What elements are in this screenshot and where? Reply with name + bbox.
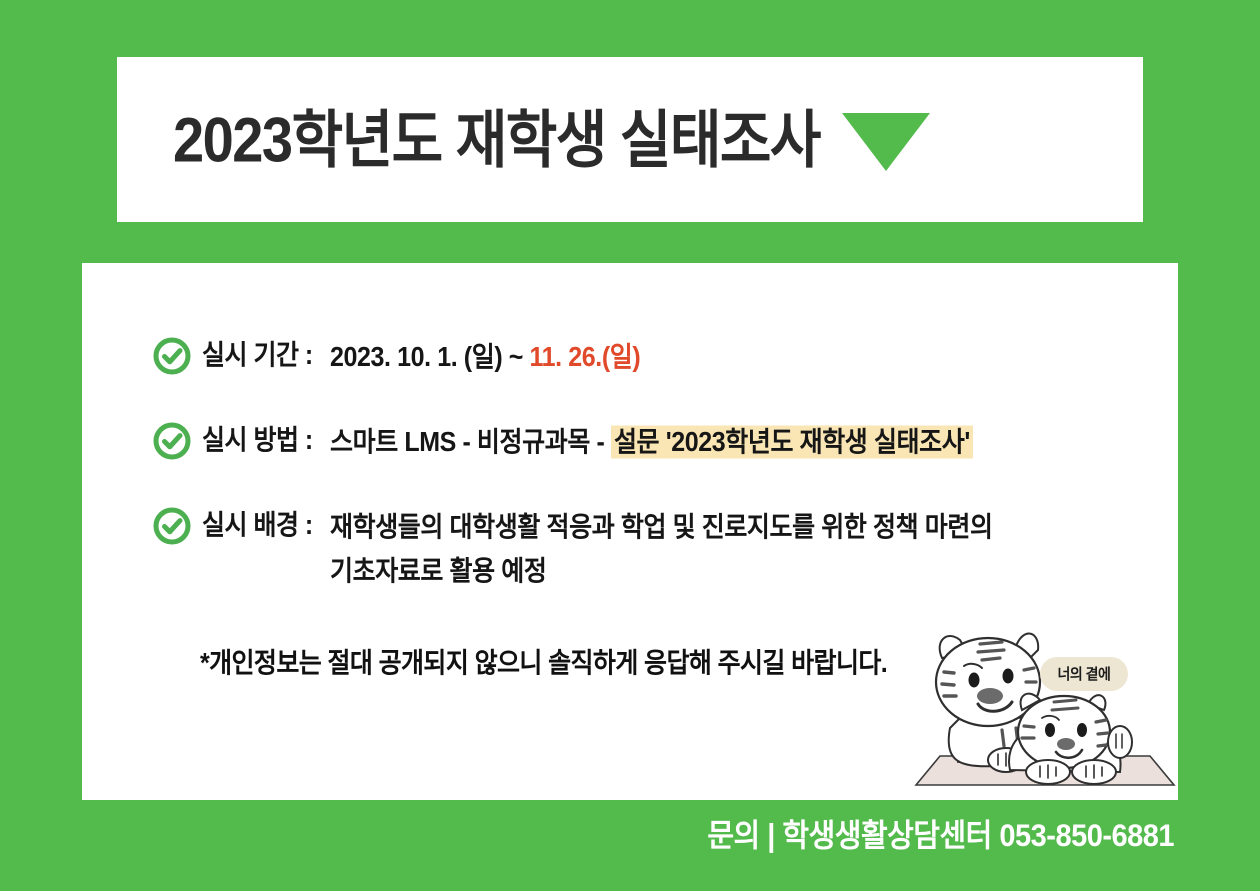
- info-row-period: 실시 기간 : 2023. 10. 1. (일) ~ 11. 26.(일): [152, 335, 1152, 376]
- check-circle-icon: [152, 336, 192, 376]
- row-label-background: 실시 배경 :: [202, 503, 330, 547]
- check-circle-icon: [152, 506, 192, 546]
- background-line-1: 재학생들의 대학생활 적응과 학업 및 진로지도를 위한 정책 마련의: [330, 512, 993, 543]
- period-end: 11. 26.(일): [530, 342, 641, 373]
- method-path: 스마트 LMS - 비정규과목 -: [330, 427, 611, 458]
- row-value-period: 2023. 10. 1. (일) ~ 11. 26.(일): [330, 335, 640, 379]
- row-value-background: 재학생들의 대학생활 적응과 학업 및 진로지도를 위한 정책 마련의 기초자료…: [330, 505, 993, 593]
- row-label-method: 실시 방법 :: [202, 418, 330, 462]
- mascot-badge-label: 너의 곁에: [1058, 664, 1111, 685]
- info-rows: 실시 기간 : 2023. 10. 1. (일) ~ 11. 26.(일) 실시…: [152, 335, 1152, 585]
- info-row-background: 실시 배경 : 재학생들의 대학생활 적응과 학업 및 진로지도를 위한 정책 …: [152, 505, 1152, 585]
- row-value-method: 스마트 LMS - 비정규과목 - 설문 '2023학년도 재학생 실태조사': [330, 420, 973, 464]
- method-survey-name: 설문 '2023학년도 재학생 실태조사': [611, 426, 973, 459]
- row-label-period: 실시 기간 :: [202, 333, 330, 377]
- poster-root: 2023학년도 재학생 실태조사 실시 기간 : 2023. 10. 1. (일…: [0, 0, 1260, 891]
- footer: 문의 | 학생생활상담센터 053-850-6881: [0, 812, 1178, 854]
- main-content-card: 실시 기간 : 2023. 10. 1. (일) ~ 11. 26.(일) 실시…: [82, 263, 1178, 800]
- background-line-2: 기초자료로 활용 예정: [330, 549, 993, 593]
- footer-contact: 문의 | 학생생활상담센터 053-850-6881: [707, 810, 1174, 855]
- triangle-down-icon: [842, 113, 930, 171]
- check-circle-icon: [152, 421, 192, 461]
- privacy-note: *개인정보는 절대 공개되지 않으니 솔직하게 응답해 주시길 바랍니다.: [200, 641, 887, 681]
- page-title: 2023학년도 재학생 실태조사: [173, 108, 820, 171]
- tiger-mascots-illustration: [898, 610, 1178, 800]
- title-card: 2023학년도 재학생 실태조사: [117, 57, 1143, 222]
- mascot-badge: 너의 곁에: [1040, 657, 1128, 691]
- period-start: 2023. 10. 1. (일) ~: [330, 342, 530, 373]
- info-row-method: 실시 방법 : 스마트 LMS - 비정규과목 - 설문 '2023학년도 재학…: [152, 420, 1152, 461]
